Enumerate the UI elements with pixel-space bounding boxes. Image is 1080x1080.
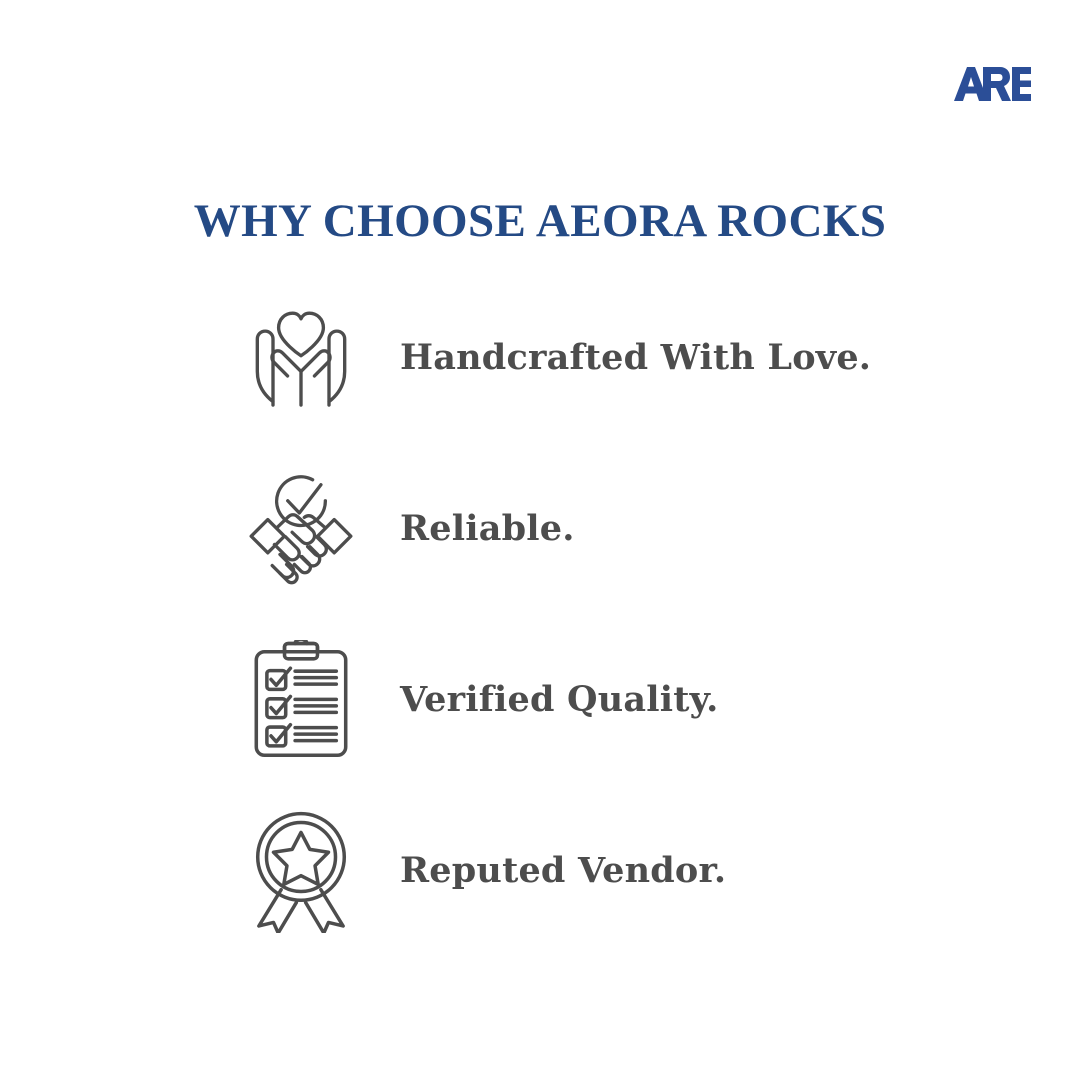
are-wordmark-logo-icon xyxy=(952,62,1032,106)
feature-list: Handcrafted With Love. xyxy=(236,272,936,956)
brand-logo[interactable]: ARE xyxy=(952,62,1032,106)
list-item: Reputed Vendor. xyxy=(236,786,936,956)
list-item: Reliable. xyxy=(236,444,936,614)
page-title: WHY CHOOSE AEORA ROCKS xyxy=(0,195,1080,249)
list-item: Handcrafted With Love. xyxy=(236,272,936,444)
clipboard-checklist-icon xyxy=(236,630,366,770)
heart-in-hands-icon xyxy=(236,288,366,428)
list-item-label: Handcrafted With Love. xyxy=(400,339,871,378)
list-item: Verified Quality. xyxy=(236,614,936,786)
list-item-label: Reliable. xyxy=(400,510,575,549)
handshake-check-icon xyxy=(236,459,366,599)
list-item-label: Verified Quality. xyxy=(400,681,719,720)
poster-canvas: ARE WHY CHOOSE AEORA ROCKS xyxy=(0,0,1080,1080)
list-item-label: Reputed Vendor. xyxy=(400,852,726,891)
award-rosette-star-icon xyxy=(236,801,366,941)
